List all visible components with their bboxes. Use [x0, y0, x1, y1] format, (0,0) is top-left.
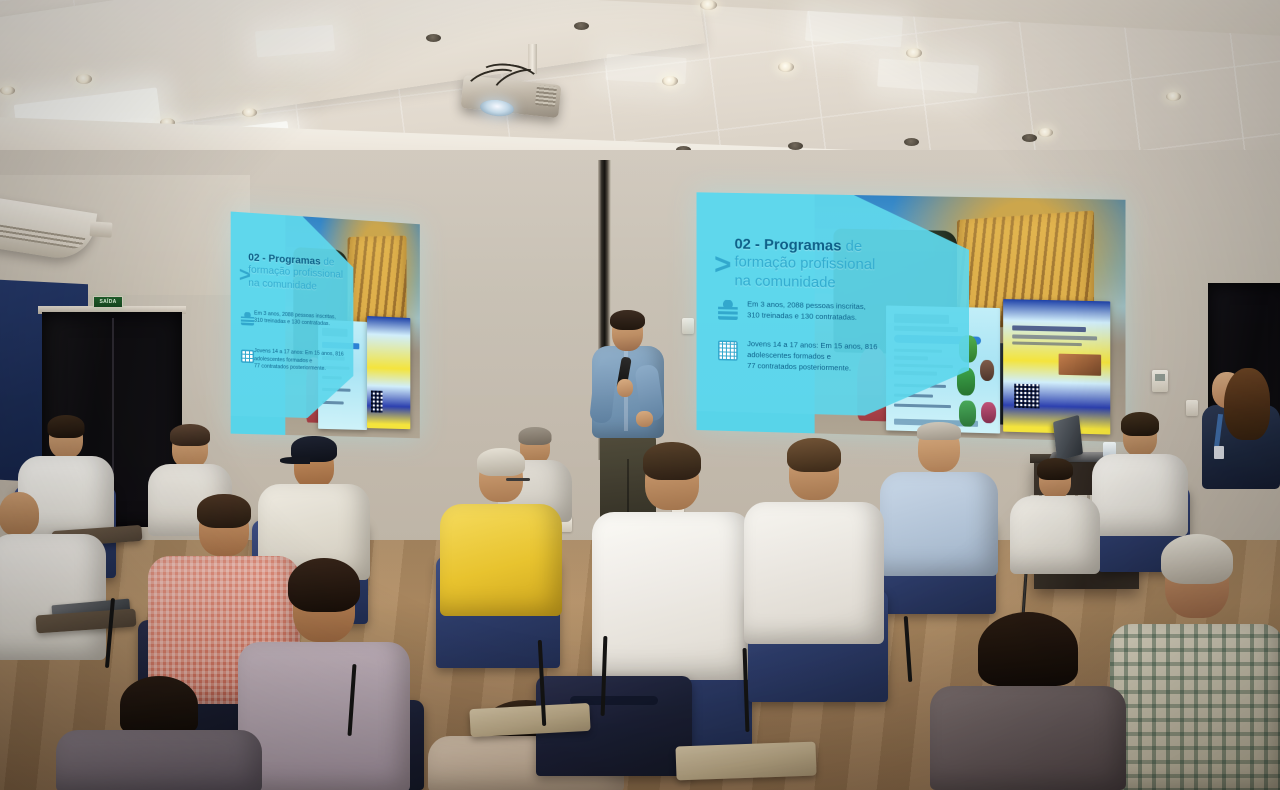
group-people-icon	[718, 300, 738, 320]
attendee-hair	[787, 438, 841, 472]
slide-flyer-aprendiz	[367, 316, 411, 430]
calendar-icon	[718, 340, 738, 360]
ceiling-downlight-off	[904, 138, 919, 146]
seated-staff-member	[1196, 372, 1280, 498]
ceiling-downlight	[662, 76, 678, 86]
slide-title-number: 02 -	[734, 236, 759, 253]
attendee-grey-polo-front	[930, 612, 1126, 790]
attendee-white-shirt-right-center	[744, 444, 884, 644]
flyer-character	[980, 359, 995, 381]
attendee-hair	[197, 494, 251, 528]
attendee-shirt	[592, 512, 752, 680]
flyer-line	[1012, 341, 1082, 346]
attendee-shirt	[56, 730, 262, 790]
ceiling-downlight	[242, 108, 257, 117]
attendee-shirt	[880, 472, 998, 576]
attendee-hair	[48, 415, 85, 438]
projector-vent	[535, 85, 557, 107]
eyeglasses	[506, 478, 530, 481]
attendee-hair	[1161, 534, 1233, 584]
attendee-hair	[1037, 458, 1073, 480]
conference-room-photo: SAÍDA	[0, 0, 1280, 790]
ceiling-downlight-off	[1022, 134, 1037, 142]
ceiling-mounted-projector	[462, 66, 570, 120]
attendee-shirt	[0, 534, 106, 660]
attendee-shirt	[930, 686, 1126, 790]
attendee-hair	[170, 424, 210, 446]
attendee-hair	[917, 422, 961, 440]
slide-bullet-2: Jovens 14 a 17 anos: Em 15 anos, 816 ado…	[747, 339, 978, 378]
ceiling-downlight-off	[788, 142, 803, 150]
slide-title-line2: formação profissional	[734, 254, 875, 274]
thermostat[interactable]	[1152, 370, 1168, 392]
attendee-white-shirt-center	[592, 448, 752, 680]
attendee-head	[120, 676, 198, 734]
ceiling-downlight-off	[574, 22, 589, 30]
attendee-back-row-right	[1010, 462, 1100, 574]
slide-bullet-2: Jovens 14 a 17 anos: Em 15 anos, 816 ado…	[254, 348, 353, 375]
group-people-icon	[240, 312, 253, 326]
flyer-qr-code	[371, 390, 382, 413]
attendee-hair	[978, 612, 1078, 686]
ceiling-downlight	[1166, 92, 1181, 101]
attendee-dark-hair-front	[238, 566, 410, 790]
ceiling-downlight	[906, 48, 922, 58]
wall-outlet	[682, 318, 694, 334]
attendee-shirt	[1110, 624, 1280, 790]
attendee-blue-shirt-right	[880, 424, 998, 576]
attendee-hair	[288, 558, 360, 612]
attendee-head	[0, 492, 39, 536]
presenter-hair	[610, 310, 645, 330]
flyer-heading-line	[1012, 326, 1086, 333]
flyer-character	[959, 400, 976, 427]
projection-screen-left: > 02 - Programas de formação profissiona…	[231, 212, 420, 439]
attendee-shirt	[1010, 496, 1100, 574]
flyer-line	[894, 403, 951, 408]
attendee-hair	[643, 442, 701, 480]
attendee-dark-front-left	[56, 676, 262, 790]
slide-left: > 02 - Programas de formação profissiona…	[231, 212, 420, 439]
bullet-2-line-3: 77 contratados posteriormente.	[254, 363, 326, 372]
slide-title-rest: de	[846, 238, 863, 255]
attendee-white-shirt-mid-left	[0, 492, 106, 660]
ceiling-downlight	[1038, 128, 1053, 137]
slide-flyer-aprendiz	[1003, 299, 1109, 434]
ceiling-downlight	[76, 74, 92, 84]
slide-title: 02 - Programas de formação profissional …	[248, 253, 355, 296]
slide-title-rest: de	[323, 257, 334, 269]
tablet-arm-desk	[675, 742, 816, 781]
flyer-line	[1012, 335, 1097, 340]
bullet-2-line-3: 77 contratados posteriormente.	[747, 361, 851, 373]
attendee-shirt	[440, 504, 562, 616]
attendee-shirt	[238, 642, 410, 790]
attendee-shirt	[744, 502, 884, 644]
projection-screen-right: > 02 - Programas de formação profissiona…	[697, 192, 1126, 442]
attendee-yellow-polo	[440, 452, 562, 616]
slide-right: > 02 - Programas de formação profissiona…	[697, 192, 1126, 442]
presenter-hand-holding-mic	[617, 379, 633, 397]
baseball-cap	[291, 436, 337, 462]
ceiling-downlight-off	[426, 34, 441, 42]
slide-chevron-icon: >	[714, 250, 731, 280]
ceiling-downlight	[778, 62, 794, 72]
staff-hair	[1224, 368, 1270, 440]
calendar-icon	[240, 350, 253, 364]
attendee-hair	[1121, 412, 1159, 436]
presenter-hand	[636, 411, 653, 427]
slide-title-line3: na comunidade	[734, 272, 835, 291]
attendee-hair	[477, 448, 525, 476]
attendee-hair	[519, 427, 552, 445]
ceiling-downlight	[0, 86, 15, 95]
slide-title: 02 - Programas de formação profissional …	[734, 236, 973, 296]
attendee-shirt	[1092, 454, 1188, 536]
flyer-qr-code	[1014, 384, 1039, 409]
podium-laptop-screen[interactable]	[1053, 415, 1083, 461]
slide-title-number: 02 -	[248, 253, 265, 265]
bullet-1-line-1: Em 3 anos, 2088 pessoas inscritas,	[747, 299, 866, 311]
attendee-plaid-shirt-front-right	[1110, 540, 1280, 790]
flyer-character	[981, 402, 996, 424]
air-conditioner-louver	[0, 223, 85, 250]
bullet-1-line-2: 310 treinadas e 130 contratadas.	[747, 310, 857, 321]
slide-title-bold: Programas	[764, 236, 841, 254]
exit-sign: SAÍDA	[93, 296, 123, 308]
attendee-white-shirt-far-right	[1092, 416, 1188, 536]
flyer-photo-inset	[1059, 353, 1102, 375]
slide-title-line3: na comunidade	[248, 277, 317, 292]
bullet-2-line-2: adolescentes formados e	[747, 350, 831, 361]
id-badge	[1214, 446, 1224, 459]
wall-speaker-icon	[90, 221, 113, 237]
ceiling-downlight	[700, 0, 717, 10]
